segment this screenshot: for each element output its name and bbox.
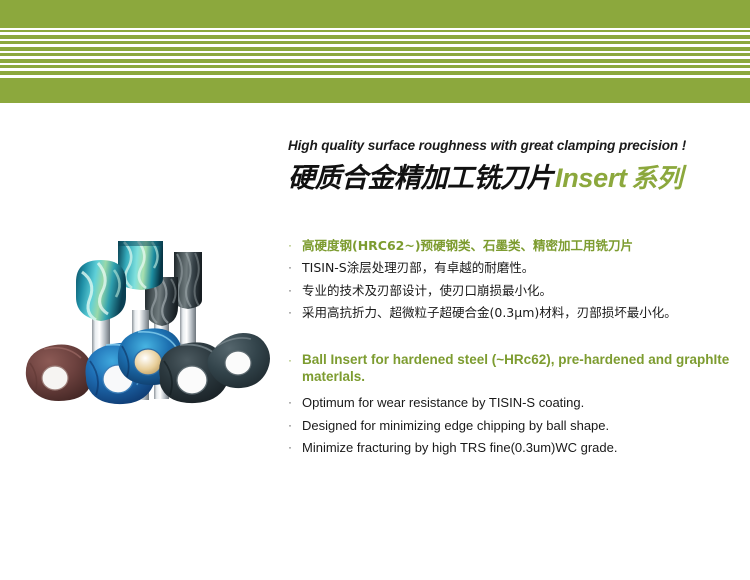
- banner-stripe: [0, 51, 750, 53]
- tagline: High quality surface roughness with grea…: [288, 138, 740, 153]
- list-item-label: Optimum for wear resistance by TISIN-S c…: [302, 393, 740, 413]
- features-list-cn: · 高硬度钢(HRC62~)预硬钢类、石墨类、精密加工用铣刀片 · TISIN-…: [288, 236, 740, 323]
- list-item: · 采用高抗折力、超微粒子超硬合金(0.3μm)材料，刃部损坏最小化。: [288, 303, 740, 322]
- page-title-series: 系列: [631, 164, 682, 194]
- product-photo: [14, 232, 270, 418]
- features-list-en: · Ball Insert for hardened steel (~HRc62…: [288, 351, 740, 458]
- bullet-icon: ·: [288, 258, 302, 277]
- banner-stripe: [0, 28, 750, 30]
- banner-stripe: [0, 75, 750, 78]
- list-item: · Optimum for wear resistance by TISIN-S…: [288, 393, 740, 413]
- square-insert-dark: [208, 333, 270, 388]
- list-item: · TISIN-S涂层处理刃部，有卓越的耐磨性。: [288, 258, 740, 277]
- bullet-icon: ·: [288, 281, 302, 300]
- bullet-icon: ·: [288, 416, 302, 435]
- bullet-icon: ·: [288, 236, 302, 255]
- list-item-label: Ball Insert for hardened steel (~HRc62),…: [302, 351, 740, 387]
- list-item: · 专业的技术及刃部设计，使刃口崩损最小化。: [288, 281, 740, 300]
- list-item-label: Minimize fracturing by high TRS fine(0.3…: [302, 438, 740, 458]
- list-item-label: 专业的技术及刃部设计，使刃口崩损最小化。: [302, 281, 740, 300]
- list-item-label: TISIN-S涂层处理刃部，有卓越的耐磨性。: [302, 258, 740, 277]
- banner-stripe: [0, 68, 750, 71]
- banner-stripe: [0, 32, 750, 35]
- list-item: · Minimize fracturing by high TRS fine(0…: [288, 438, 740, 458]
- bullet-icon: ·: [288, 303, 302, 322]
- list-item: · Ball Insert for hardened steel (~HRc62…: [288, 351, 740, 387]
- banner-stripe: [0, 56, 750, 59]
- list-item-label: Designed for minimizing edge chipping by…: [302, 416, 740, 436]
- bullet-icon: ·: [288, 393, 302, 412]
- list-item-label: 高硬度钢(HRC62~)预硬钢类、石墨类、精密加工用铣刀片: [302, 236, 740, 255]
- list-item: · 高硬度钢(HRC62~)预硬钢类、石墨类、精密加工用铣刀片: [288, 236, 740, 255]
- bullet-icon: ·: [288, 351, 302, 370]
- content-column: High quality surface roughness with grea…: [288, 138, 740, 461]
- header-banner: [0, 0, 750, 103]
- page-title: 硬质合金精加工铣刀片Insert 系列: [288, 165, 740, 192]
- banner-stripe: [0, 39, 750, 41]
- bullet-icon: ·: [288, 438, 302, 457]
- list-item: · Designed for minimizing edge chipping …: [288, 416, 740, 436]
- banner-stripe: [0, 44, 750, 47]
- page-title-en: Insert: [555, 163, 627, 193]
- banner-stripe: [0, 63, 750, 65]
- round-insert-bronze: [26, 345, 93, 401]
- list-item-label: 采用高抗折力、超微粒子超硬合金(0.3μm)材料，刃部损坏最小化。: [302, 303, 740, 322]
- page-title-cn: 硬质合金精加工铣刀片: [288, 163, 553, 194]
